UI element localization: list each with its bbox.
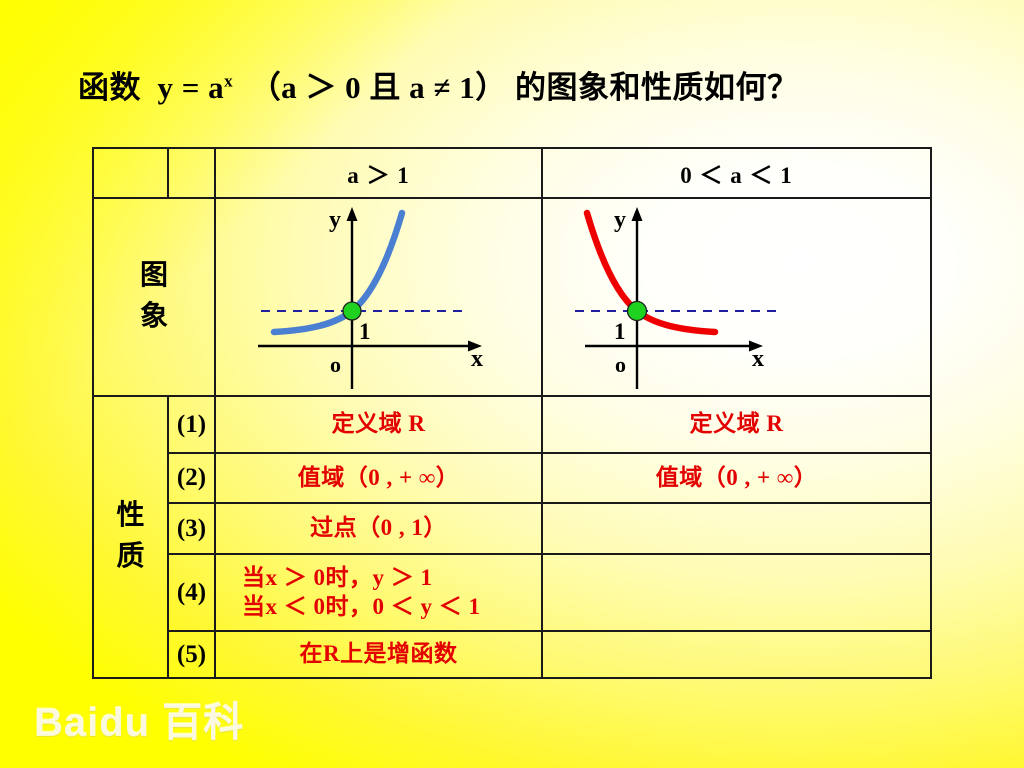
property-index-1: (1): [168, 396, 215, 453]
header-case-decay: 0 ＜ a ＜ 1: [542, 148, 931, 198]
row-label-properties-char-2: 质: [94, 537, 167, 578]
row-label-graph-char-2: 象: [94, 297, 214, 338]
page-title: 函数 y = ax （a ＞ 0 且 a ≠ 1） 的图象和性质如何？: [78, 62, 798, 107]
row-label-graph-char-1: 图: [94, 256, 214, 297]
title-function-exponent: x: [224, 72, 233, 91]
chart-exponential-growth: y x 1 o: [216, 199, 541, 395]
property-growth-4-line-1: 当x ＞ 0时，y ＞ 1: [216, 564, 541, 593]
y-axis-label-growth: y: [329, 207, 341, 233]
y-axis-label-decay: y: [614, 207, 626, 233]
property-growth-4: 当x ＞ 0时，y ＞ 1 当x ＜ 0时，0 ＜ y ＜ 1: [215, 554, 542, 631]
x-axis-label-growth: x: [471, 346, 483, 372]
property-index-4: (4): [168, 554, 215, 631]
property-growth-5: 在R上是增函数: [215, 631, 542, 678]
header-case-growth: a ＞ 1: [215, 148, 542, 198]
title-function-base: y = a: [158, 70, 225, 105]
graph-cell-growth: y x 1 o: [215, 198, 542, 396]
property-decay-1: 定义域 R: [542, 396, 931, 453]
property-growth-3: 过点（0 , 1）: [215, 503, 542, 554]
property-growth-1: 定义域 R: [215, 396, 542, 453]
header-corner-a: [93, 148, 168, 198]
property-index-5: (5): [168, 631, 215, 678]
table-row: 性 质 (1) 定义域 R 定义域 R: [93, 396, 931, 453]
property-decay-5: [542, 631, 931, 678]
graph-cell-decay: y x 1 o: [542, 198, 931, 396]
header-corner-b: [168, 148, 215, 198]
title-suffix: 的图象和性质如何？: [515, 70, 799, 105]
point-0-1-growth: [343, 302, 361, 320]
graph-row: 图 象: [93, 198, 931, 396]
row-label-properties-char-1: 性: [94, 496, 167, 537]
y-axis-arrow-decay: [632, 207, 643, 221]
property-decay-4: [542, 554, 931, 631]
chart-svg-decay: y x 1 o: [543, 199, 932, 395]
y-intercept-label-growth: 1: [359, 319, 371, 344]
point-0-1-decay: [628, 302, 647, 321]
origin-label-decay: o: [615, 352, 626, 377]
chart-exponential-decay: y x 1 o: [543, 199, 930, 395]
table-row: (4) 当x ＞ 0时，y ＞ 1 当x ＜ 0时，0 ＜ y ＜ 1: [93, 554, 931, 631]
property-index-2: (2): [168, 453, 215, 503]
title-condition: （a ＞ 0 且 a ≠ 1）: [250, 70, 507, 105]
chart-svg-growth: y x 1 o: [216, 199, 543, 395]
property-growth-2: 值域（0 , + ∞）: [215, 453, 542, 503]
properties-table: a ＞ 1 0 ＜ a ＜ 1 图 象: [92, 147, 932, 679]
property-index-3: (3): [168, 503, 215, 554]
curve-decay: [587, 213, 715, 332]
y-intercept-label-decay: 1: [614, 319, 626, 344]
x-axis-label-decay: x: [752, 346, 764, 372]
property-decay-2: 值域（0 , + ∞）: [542, 453, 931, 503]
property-decay-3: [542, 503, 931, 554]
row-label-properties: 性 质: [93, 396, 168, 678]
table-row: (3) 过点（0 , 1）: [93, 503, 931, 554]
origin-label-growth: o: [330, 352, 341, 377]
title-prefix: 函数: [78, 70, 141, 105]
table-row: (5) 在R上是增函数: [93, 631, 931, 678]
row-label-graph: 图 象: [93, 198, 215, 396]
baidu-baike-watermark: Baidu 百科: [34, 690, 244, 748]
y-axis-arrow-growth: [347, 207, 358, 221]
table-row: (2) 值域（0 , + ∞） 值域（0 , + ∞）: [93, 453, 931, 503]
table-header-row: a ＞ 1 0 ＜ a ＜ 1: [93, 148, 931, 198]
property-growth-4-line-2: 当x ＜ 0时，0 ＜ y ＜ 1: [216, 593, 541, 622]
